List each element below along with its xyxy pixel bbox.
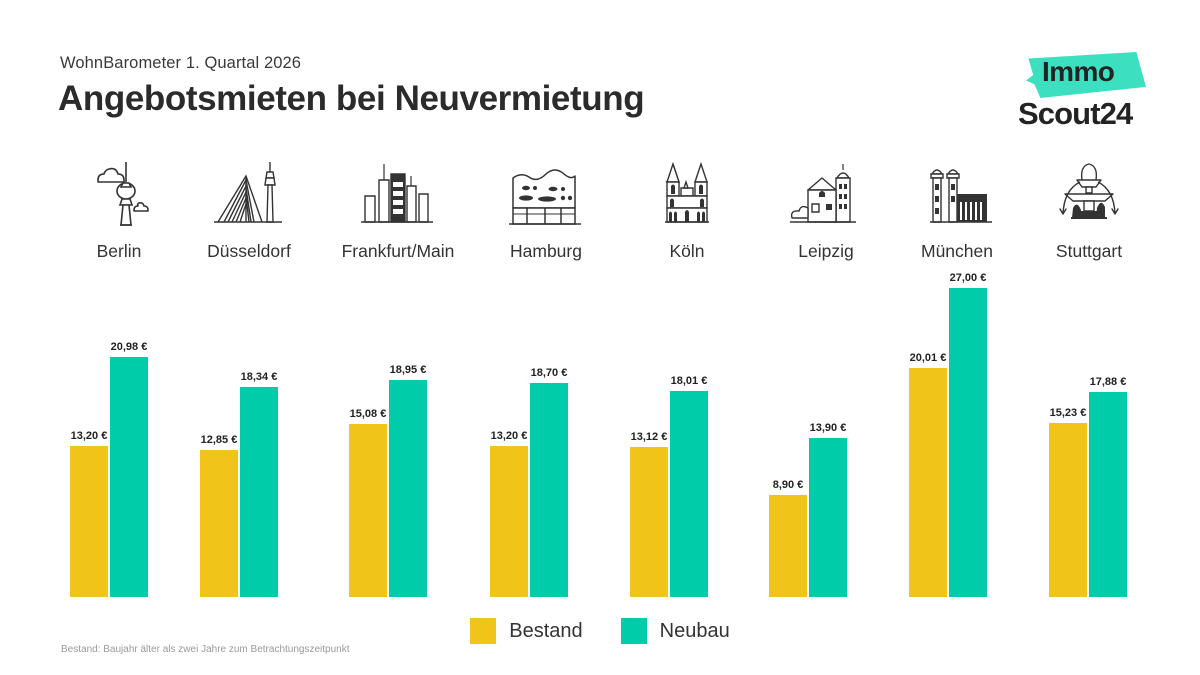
- bar-value-label: 13,20 €: [64, 430, 114, 442]
- bar-berlin-neubau: [110, 357, 148, 597]
- bar-value-label: 27,00 €: [943, 272, 993, 284]
- bar-value-label: 18,70 €: [524, 367, 574, 379]
- bar-m-nchen-bestand: [909, 368, 947, 597]
- bar-value-label: 8,90 €: [763, 479, 813, 491]
- bar-stuttgart-bestand: [1049, 423, 1087, 597]
- bar-frankfurt-main-bestand: [349, 424, 387, 597]
- bar-value-label: 18,95 €: [383, 364, 433, 376]
- bar-value-label: 17,88 €: [1083, 376, 1133, 388]
- legend-item-bestand: Bestand: [470, 618, 582, 644]
- bar-value-label: 13,20 €: [484, 430, 534, 442]
- legend-swatch-neubau-icon: [621, 618, 647, 644]
- bar-k-ln-neubau: [670, 391, 708, 597]
- bar-value-label: 20,01 €: [903, 352, 953, 364]
- bar-m-nchen-neubau: [949, 288, 987, 597]
- bar-value-label: 13,12 €: [624, 431, 674, 443]
- legend-swatch-bestand-icon: [470, 618, 496, 644]
- bar-frankfurt-main-neubau: [389, 380, 427, 597]
- legend-label-bestand: Bestand: [509, 620, 582, 643]
- bar-berlin-bestand: [70, 446, 108, 597]
- bar-value-label: 15,23 €: [1043, 407, 1093, 419]
- legend-item-neubau: Neubau: [621, 618, 730, 644]
- bar-hamburg-bestand: [490, 446, 528, 597]
- bar-value-label: 18,34 €: [234, 371, 284, 383]
- bar-value-label: 18,01 €: [664, 375, 714, 387]
- legend-label-neubau: Neubau: [660, 620, 730, 643]
- bar-value-label: 12,85 €: [194, 434, 244, 446]
- chart-legend: Bestand Neubau: [0, 618, 1200, 644]
- infographic-page: WohnBarometer 1. Quartal 2026 Angebotsmi…: [0, 0, 1200, 675]
- bar-chart-plot: 13,20 €20,98 €12,85 €18,34 €15,08 €18,95…: [0, 0, 1200, 675]
- bar-value-label: 13,90 €: [803, 422, 853, 434]
- bar-hamburg-neubau: [530, 383, 568, 597]
- bar-leipzig-bestand: [769, 495, 807, 597]
- chart-footnote: Bestand: Baujahr älter als zwei Jahre zu…: [61, 644, 350, 655]
- bar-value-label: 20,98 €: [104, 341, 154, 353]
- bar-k-ln-bestand: [630, 447, 668, 597]
- bar-leipzig-neubau: [809, 438, 847, 597]
- bar-d-sseldorf-neubau: [240, 387, 278, 597]
- bar-stuttgart-neubau: [1089, 392, 1127, 597]
- bar-value-label: 15,08 €: [343, 408, 393, 420]
- bar-d-sseldorf-bestand: [200, 450, 238, 597]
